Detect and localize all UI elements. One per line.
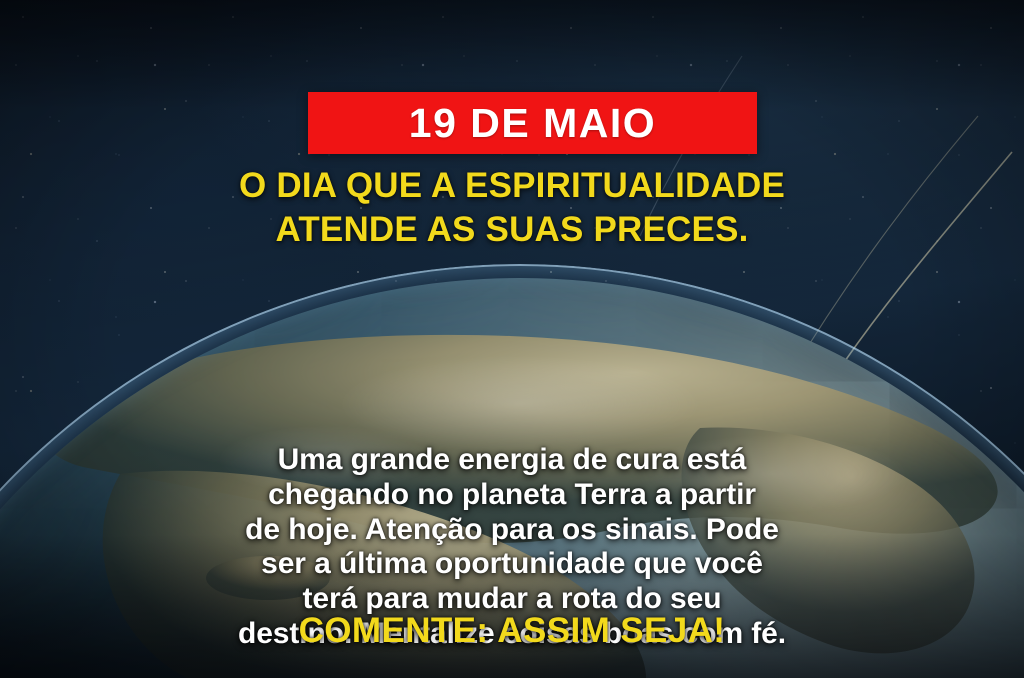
headline: O DIA QUE A ESPIRITUALIDADE ATENDE AS SU… — [0, 164, 1024, 252]
date-banner-text: 19 DE MAIO — [409, 103, 656, 144]
poster-canvas: 19 DE MAIO O DIA QUE A ESPIRITUALIDADE A… — [0, 0, 1024, 685]
bottom-white-strip — [0, 678, 1024, 685]
headline-line-2: ATENDE AS SUAS PRECES. — [0, 208, 1024, 252]
body-copy-line-2: chegando no planeta Terra a partir — [60, 478, 964, 513]
call-to-action-text: COMENTE: ASSIM SEJA! — [0, 612, 1024, 651]
poster-content: 19 DE MAIO O DIA QUE A ESPIRITUALIDADE A… — [0, 0, 1024, 685]
body-copy-line-3: de hoje. Atenção para os sinais. Pode — [60, 513, 964, 548]
body-copy-line-4: ser a última oportunidade que você — [60, 547, 964, 582]
date-banner: 19 DE MAIO — [308, 92, 757, 154]
body-copy-line-1: Uma grande energia de cura está — [60, 443, 964, 478]
headline-line-1: O DIA QUE A ESPIRITUALIDADE — [0, 164, 1024, 208]
